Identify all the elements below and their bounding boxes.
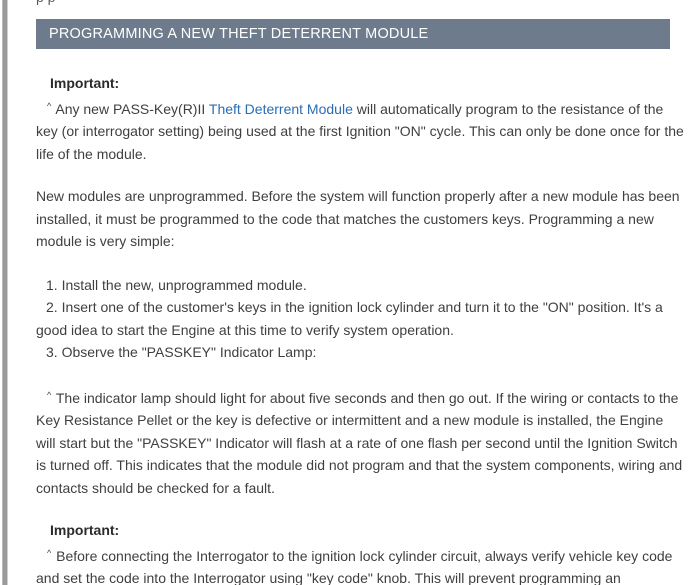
important-block-1: Important: ^ Any new PASS-Key(R)II Theft… xyxy=(36,72,684,165)
indicator-lamp-note: ^ The indicator lamp should light for ab… xyxy=(36,384,684,500)
section-header-bar: PROGRAMMING A NEW THEFT DETERRENT MODULE xyxy=(36,19,670,49)
important-note-2-text: Before connecting the Interrogator to th… xyxy=(36,548,672,585)
procedure-step-list: 1. Install the new, unprogrammed module.… xyxy=(36,274,684,364)
important-note-1-text-before-link: Any new PASS-Key(R)II xyxy=(52,101,209,117)
clipped-previous-line: p p xyxy=(36,0,55,5)
vertical-scrollbar[interactable] xyxy=(2,0,8,585)
procedure-step-1: 1. Install the new, unprogrammed module. xyxy=(36,274,684,297)
document-body: Important: ^ Any new PASS-Key(R)II Theft… xyxy=(36,72,684,585)
important-label-2: Important: xyxy=(36,519,684,542)
intro-paragraph: New modules are unprogrammed. Before the… xyxy=(36,185,684,253)
theft-deterrent-module-link[interactable]: Theft Deterrent Module xyxy=(209,101,353,117)
indicator-lamp-note-line: ^ The indicator lamp should light for ab… xyxy=(36,384,684,500)
important-note-2: ^ Before connecting the Interrogator to … xyxy=(36,542,684,585)
important-note-1: ^ Any new PASS-Key(R)II Theft Deterrent … xyxy=(36,95,684,166)
important-label-1: Important: xyxy=(36,72,684,95)
document-page: p p PROGRAMMING A NEW THEFT DETERRENT MO… xyxy=(10,0,697,585)
section-title: PROGRAMMING A NEW THEFT DETERRENT MODULE xyxy=(36,19,670,49)
indicator-lamp-note-text: The indicator lamp should light for abou… xyxy=(36,390,682,496)
important-block-2: Important: ^ Before connecting the Inter… xyxy=(36,519,684,585)
procedure-step-2: 2. Insert one of the customer's keys in … xyxy=(36,296,684,341)
procedure-step-3: 3. Observe the "PASSKEY" Indicator Lamp: xyxy=(36,341,684,364)
viewport-left-gutter xyxy=(0,0,10,585)
